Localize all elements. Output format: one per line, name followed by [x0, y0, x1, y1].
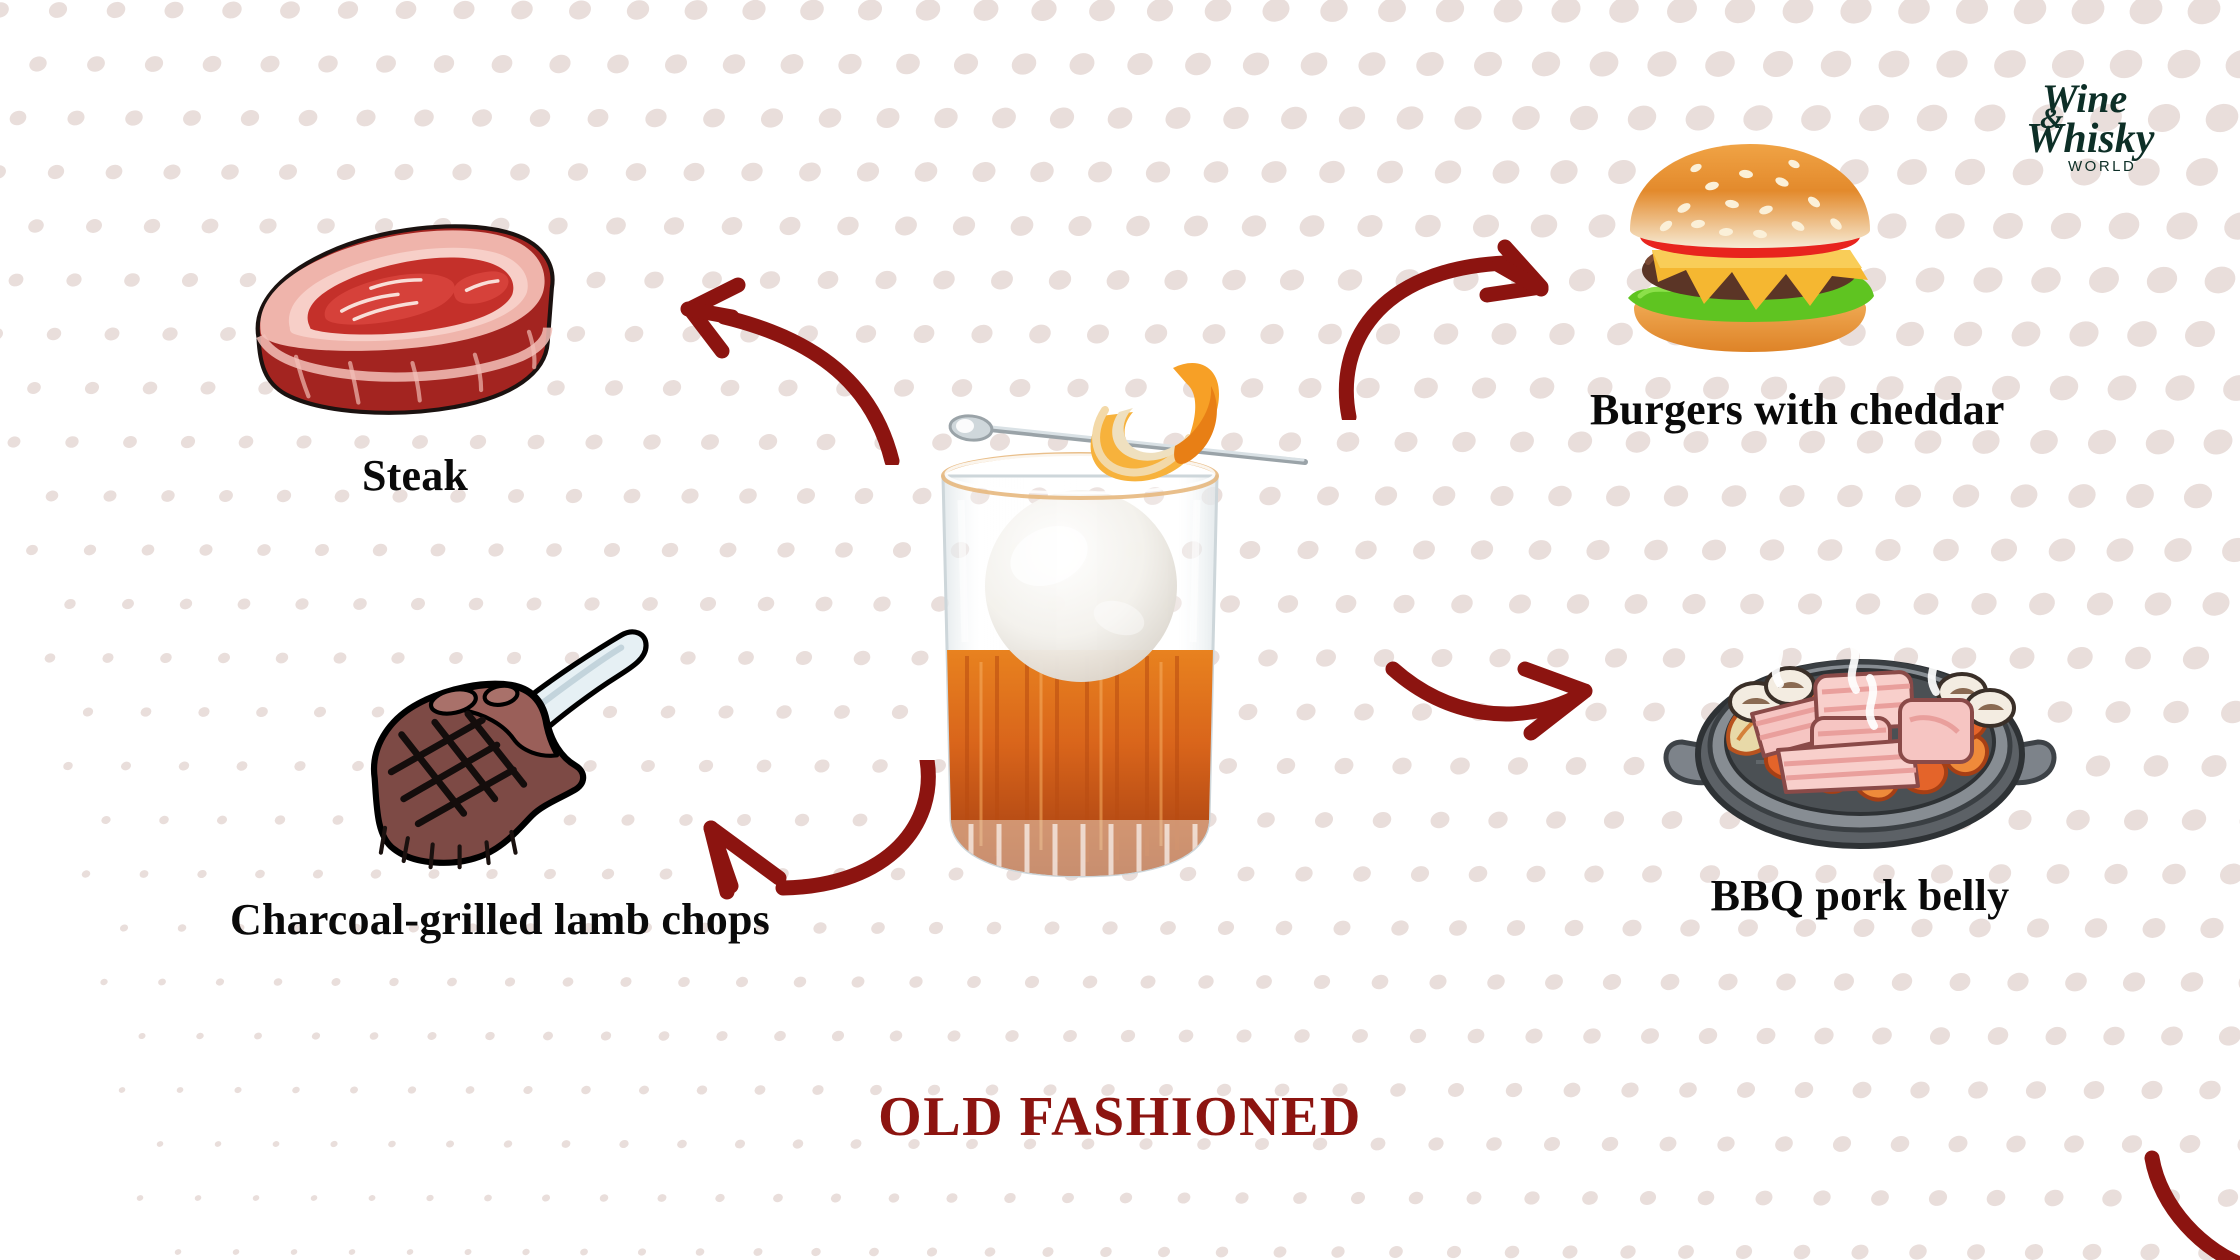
corner-decoration-stroke	[2110, 1150, 2240, 1260]
old-fashioned-cocktail	[905, 350, 1335, 920]
pairing-bbq: BBQ pork belly	[1580, 630, 2140, 921]
pairing-steak: Steak	[200, 180, 630, 501]
pairing-label-burger: Burgers with cheddar	[1590, 384, 2210, 435]
pairing-label-bbq: BBQ pork belly	[1580, 870, 2140, 921]
pairing-label-steak: Steak	[200, 450, 630, 501]
ribeye-steak-icon	[200, 180, 600, 440]
lamb-chop-icon	[335, 600, 665, 890]
pairing-lamb: Charcoal-grilled lamb chops	[170, 600, 830, 945]
bbq-grill-pan-icon	[1660, 630, 2060, 860]
infographic-canvas: Wine & Whisky WORLD	[0, 0, 2240, 1260]
page-title: OLD FASHIONED	[0, 1085, 2240, 1149]
cheeseburger-icon	[1600, 130, 1900, 370]
pairing-burger: Burgers with cheddar	[1590, 130, 2210, 435]
pairing-label-lamb: Charcoal-grilled lamb chops	[170, 894, 830, 945]
arrow-to-burger	[1315, 235, 1575, 420]
ice-sphere	[985, 490, 1177, 682]
